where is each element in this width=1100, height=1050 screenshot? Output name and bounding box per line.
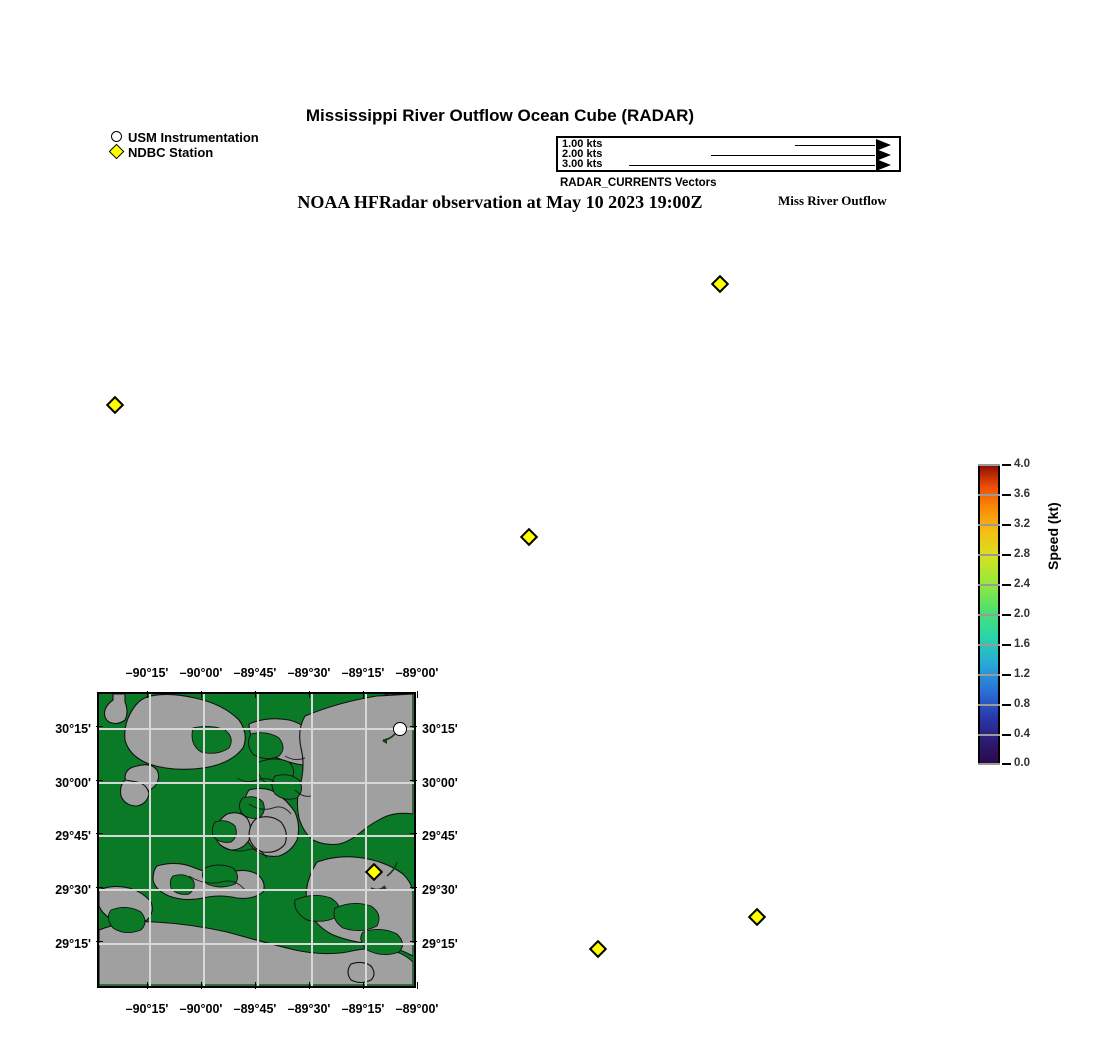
lon-label-bottom-5: –89°00' [396, 1002, 439, 1016]
axis-tick-bottom [201, 982, 202, 989]
colorbar-separator [978, 734, 1000, 736]
axis-tick-right [410, 887, 417, 888]
ndbc-station-marker-2[interactable] [106, 396, 124, 414]
colorbar-tick [1002, 494, 1011, 496]
axis-tick-right [410, 780, 417, 781]
lon-label-bottom-0: –90°15' [126, 1002, 169, 1016]
lat-label-left-4: 29°15' [55, 937, 91, 951]
circle-marker-icon [110, 130, 125, 145]
ndbc-station-marker-5[interactable] [589, 940, 607, 958]
lon-label-top-0: –90°15' [126, 666, 169, 680]
dataset-corner-label: Miss River Outflow [778, 193, 887, 209]
axis-tick-top [255, 691, 256, 698]
axis-tick-bottom [147, 982, 148, 989]
lat-label-right-1: 30°00' [422, 776, 458, 790]
axis-tick-bottom [255, 982, 256, 989]
legend-label-usm: USM Instrumentation [128, 130, 259, 145]
colorbar-tick [1002, 763, 1011, 765]
colorbar-tick-label-2-8: 2.8 [1014, 548, 1030, 560]
colorbar-separator [978, 763, 1000, 765]
axis-tick-bottom [363, 982, 364, 989]
colorbar-tick-label-2-0: 2.0 [1014, 608, 1030, 620]
lon-label-bottom-4: –89°15' [342, 1002, 385, 1016]
axis-tick-left [96, 726, 103, 727]
lon-label-top-5: –89°00' [396, 666, 439, 680]
colorbar-tick [1002, 584, 1011, 586]
speed-colorbar: 4.0 3.6 3.2 2.8 2.4 2.0 1.6 1.2 0.8 0.4 … [978, 464, 1000, 765]
axis-tick-bottom [417, 982, 418, 989]
colorbar-tick [1002, 464, 1011, 466]
axis-tick-right [410, 941, 417, 942]
colorbar-separator [978, 524, 1000, 526]
vector-arrowhead-3 [876, 159, 891, 171]
ndbc-station-marker-1[interactable] [711, 275, 729, 293]
colorbar-tick [1002, 554, 1011, 556]
colorbar-tick-label-0-8: 0.8 [1014, 698, 1030, 710]
vector-shaft-3 [629, 165, 875, 166]
colorbar-axis-title: Speed (kt) [1045, 502, 1061, 570]
colorbar-separator [978, 614, 1000, 616]
axis-tick-top [309, 691, 310, 698]
lon-label-bottom-1: –90°00' [180, 1002, 223, 1016]
lon-label-top-1: –90°00' [180, 666, 223, 680]
gridline-lat-4 [99, 943, 414, 945]
gridline-lat-0 [99, 728, 414, 730]
axis-tick-right [410, 833, 417, 834]
lon-label-bottom-3: –89°30' [288, 1002, 331, 1016]
lat-label-left-3: 29°30' [55, 883, 91, 897]
colorbar-tick [1002, 524, 1011, 526]
colorbar-separator [978, 644, 1000, 646]
colorbar-tick-label-1-6: 1.6 [1014, 638, 1030, 650]
axis-tick-top [417, 691, 418, 698]
colorbar-tick-label-1-2: 1.2 [1014, 668, 1030, 680]
colorbar-tick [1002, 674, 1011, 676]
lat-label-right-4: 29°15' [422, 937, 458, 951]
station-legend: USM Instrumentation NDBC Station [110, 130, 259, 160]
lon-label-top-2: –89°45' [234, 666, 277, 680]
colorbar-separator [978, 674, 1000, 676]
axis-tick-top [363, 691, 364, 698]
map-panel[interactable]: –90°15' –90°00' –89°45' –89°30' –89°15' … [97, 692, 416, 988]
colorbar-tick [1002, 704, 1011, 706]
legend-item-usm: USM Instrumentation [110, 130, 259, 145]
colorbar-separator [978, 464, 1000, 466]
ndbc-station-marker-4[interactable] [748, 908, 766, 926]
colorbar-separator [978, 554, 1000, 556]
page-title: Mississippi River Outflow Ocean Cube (RA… [0, 106, 1000, 126]
lat-label-right-3: 29°30' [422, 883, 458, 897]
lat-label-right-0: 30°15' [422, 722, 458, 736]
diamond-marker-icon [110, 145, 125, 160]
lat-label-left-0: 30°15' [55, 722, 91, 736]
vector-legend-label-3: 3.00 kts [562, 158, 602, 170]
colorbar-tick-label-0-0: 0.0 [1014, 757, 1030, 769]
colorbar-separator [978, 704, 1000, 706]
map-frame[interactable] [97, 692, 416, 988]
lat-label-right-2: 29°45' [422, 829, 458, 843]
colorbar-tick [1002, 734, 1011, 736]
lat-label-left-2: 29°45' [55, 829, 91, 843]
gridline-lat-2 [99, 835, 414, 837]
axis-tick-left [96, 941, 103, 942]
axis-tick-right [410, 726, 417, 727]
axis-tick-left [96, 887, 103, 888]
colorbar-tick [1002, 614, 1011, 616]
vector-shaft-1 [795, 145, 875, 146]
vector-shaft-2 [711, 155, 875, 156]
colorbar-tick-label-4-0: 4.0 [1014, 458, 1030, 470]
axis-tick-top [201, 691, 202, 698]
colorbar-tick-label-3-6: 3.6 [1014, 488, 1030, 500]
colorbar-tick-label-2-4: 2.4 [1014, 578, 1030, 590]
axis-tick-top [147, 691, 148, 698]
usm-instrumentation-marker[interactable] [393, 722, 407, 736]
vector-legend-caption: RADAR_CURRENTS Vectors [560, 177, 717, 189]
legend-item-ndbc: NDBC Station [110, 145, 259, 160]
lon-label-bottom-2: –89°45' [234, 1002, 277, 1016]
vector-scale-legend: 1.00 kts 2.00 kts 3.00 kts [556, 136, 901, 172]
legend-label-ndbc: NDBC Station [128, 145, 213, 160]
axis-tick-left [96, 833, 103, 834]
axis-tick-left [96, 780, 103, 781]
colorbar-separator [978, 584, 1000, 586]
lon-label-top-3: –89°30' [288, 666, 331, 680]
gridline-lat-1 [99, 782, 414, 784]
colorbar-tick-label-0-4: 0.4 [1014, 728, 1030, 740]
colorbar-tick [1002, 644, 1011, 646]
colorbar-separator [978, 494, 1000, 496]
colorbar-tick-label-3-2: 3.2 [1014, 518, 1030, 530]
ndbc-station-marker-3[interactable] [520, 528, 538, 546]
axis-tick-bottom [309, 982, 310, 989]
lon-label-top-4: –89°15' [342, 666, 385, 680]
vector-legend-row-3: 3.00 kts [558, 159, 899, 171]
lat-label-left-1: 30°00' [55, 776, 91, 790]
gridline-lat-3 [99, 889, 414, 891]
